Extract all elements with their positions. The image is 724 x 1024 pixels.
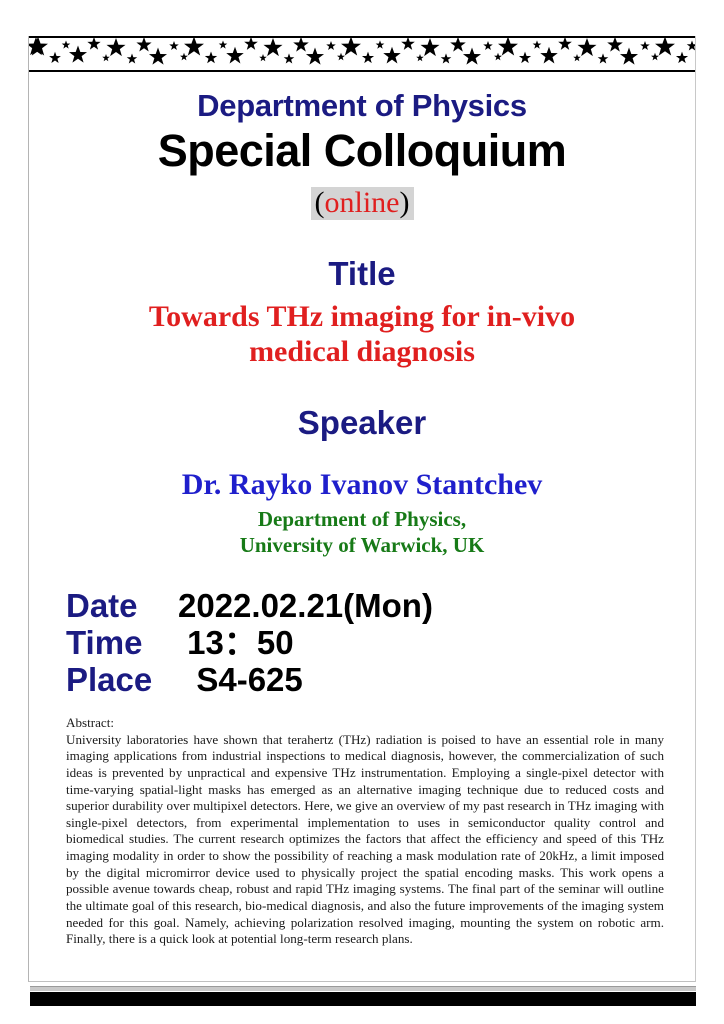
open-paren: ( (315, 186, 325, 219)
talk-title: Towards THz imaging for in-vivo medical … (28, 300, 696, 369)
affiliation-line-1: Department of Physics, (28, 506, 696, 532)
speaker-affiliation: Department of Physics, University of War… (28, 506, 696, 559)
date-value: 2022.02.21(Mon) (178, 588, 433, 625)
delivery-mode-badge: (online) (311, 187, 414, 220)
detail-row-date: Date 2022.02.21(Mon) (66, 588, 696, 625)
delivery-mode-label: online (325, 186, 400, 219)
talk-title-line-2: medical diagnosis (58, 335, 666, 370)
affiliation-line-2: University of Warwick, UK (28, 532, 696, 558)
detail-row-place: Place S4-625 (66, 662, 696, 699)
abstract-heading: Abstract: (66, 715, 664, 732)
talk-title-line-1: Towards THz imaging for in-vivo (58, 300, 666, 335)
title-section-label: Title (28, 256, 696, 292)
abstract-section: Abstract: University laboratories have s… (66, 715, 664, 948)
star-border-decoration (28, 36, 696, 72)
place-label: Place (66, 662, 178, 699)
speaker-section-label: Speaker (28, 405, 696, 441)
star-pattern-icon (28, 38, 696, 66)
time-value: 13：50 (178, 625, 294, 662)
event-details: Date 2022.02.21(Mon) Time 13：50 Place S4… (66, 588, 696, 699)
place-value: S4-625 (178, 662, 303, 699)
bottom-black-bar (30, 992, 696, 1006)
department-heading: Department of Physics (28, 90, 696, 123)
detail-row-time: Time 13：50 (66, 625, 696, 662)
colloquium-poster: Department of Physics Special Colloquium… (28, 36, 696, 982)
close-paren: ) (400, 186, 410, 219)
bottom-thin-rule (30, 986, 696, 991)
delivery-mode-wrap: (online) (28, 187, 696, 220)
date-label: Date (66, 588, 178, 625)
abstract-text: University laboratories have shown that … (66, 732, 664, 948)
time-label: Time (66, 625, 178, 662)
event-type-heading: Special Colloquium (28, 126, 696, 176)
speaker-name: Dr. Rayko Ivanov Stantchev (28, 468, 696, 501)
